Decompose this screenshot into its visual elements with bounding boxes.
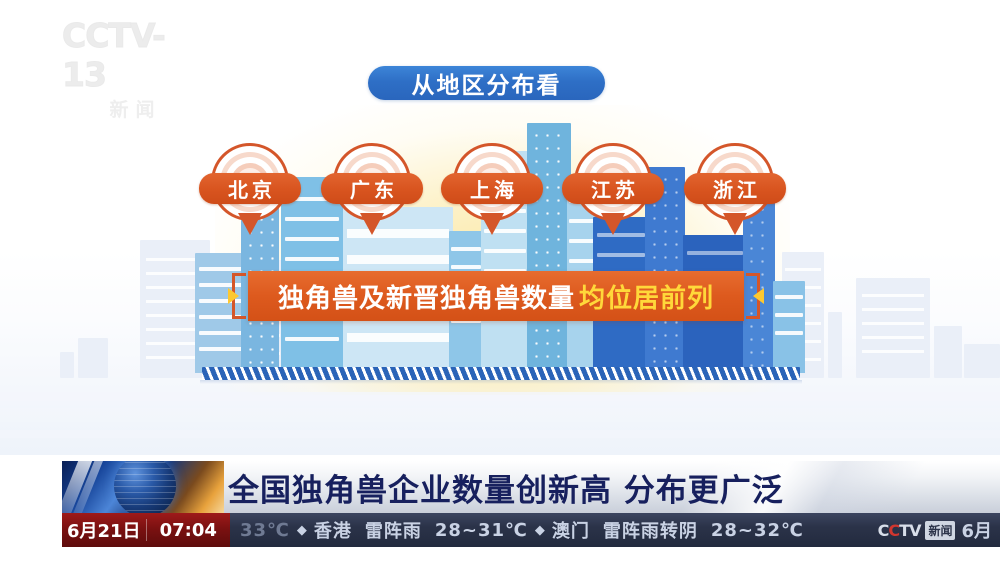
pin-label-text: 浙江 xyxy=(709,174,761,203)
pin-tip-icon xyxy=(723,213,747,235)
pin-label-text: 北京 xyxy=(224,174,276,203)
statement-highlight-text: 均位居前列 xyxy=(579,278,714,315)
weather-city: 香港 xyxy=(314,517,352,543)
ticker-time: 07:04 xyxy=(147,520,231,541)
headline-text: 全国独角兽企业数量创新高 分布更广泛 xyxy=(228,465,784,510)
pin-label: 广东 xyxy=(321,173,423,204)
weather-condition: 雷阵雨 xyxy=(365,517,422,543)
pin-label: 北京 xyxy=(199,173,301,204)
broadcast-screen: 从地区分布看 北京 广东 上海 xyxy=(0,0,1000,563)
arrow-right-icon xyxy=(753,288,764,304)
lower-third-bottom-fill xyxy=(0,547,1000,563)
pin-label-text: 广东 xyxy=(346,174,398,203)
channel-watermark: CCTV-13 新闻 xyxy=(62,38,202,100)
pin-label: 上海 xyxy=(441,173,543,204)
weather-bullet-icon: ◆ xyxy=(297,522,307,538)
location-pin-jiangsu[interactable]: 江苏 xyxy=(563,143,663,251)
pin-tip-icon xyxy=(601,213,625,235)
pin-label: 江苏 xyxy=(562,173,664,204)
ticker-news-badge: 新闻 xyxy=(925,521,955,540)
globe-logo-icon xyxy=(62,461,224,513)
location-pin-shanghai[interactable]: 上海 xyxy=(442,143,542,251)
ticker-datetime: 6月21日 07:04 xyxy=(62,513,230,547)
pin-label: 浙江 xyxy=(684,173,786,204)
statement-banner: 独角兽及新晋独角兽数量 均位居前列 xyxy=(248,271,744,321)
ticker-bar: 6月21日 07:04 33℃ ◆ 香港 雷阵雨 28~31℃ ◆ 澳门 雷阵雨… xyxy=(62,513,1000,547)
weather-range: 28~32℃ xyxy=(711,520,804,541)
infographic-background: 从地区分布看 北京 广东 上海 xyxy=(0,0,1000,455)
weather-city: 澳门 xyxy=(552,517,590,543)
pin-tip-icon xyxy=(238,213,262,235)
pin-label-text: 上海 xyxy=(466,174,518,203)
watermark-news-text: 新闻 xyxy=(102,95,161,122)
headline-container: 全国独角兽企业数量创新高 分布更广泛 xyxy=(228,461,784,513)
arrow-left-icon xyxy=(228,288,239,304)
weather-condition: 雷阵雨转阴 xyxy=(603,517,698,543)
location-pin-beijing[interactable]: 北京 xyxy=(200,143,300,251)
statement-banner-wrap: 独角兽及新晋独角兽数量 均位居前列 xyxy=(228,271,764,321)
pin-tip-icon xyxy=(480,213,504,235)
lower-third: 全国独角兽企业数量创新高 分布更广泛 6月21日 07:04 33℃ ◆ 香港 … xyxy=(0,455,1000,563)
statement-primary-text: 独角兽及新晋独角兽数量 xyxy=(278,278,575,315)
ticker-channel-logo: CCTV 新闻 xyxy=(878,521,962,540)
weather-range: 28~31℃ xyxy=(435,520,528,541)
ticker-tail-text: 6月 xyxy=(961,517,1000,543)
weather-bullet-icon: ◆ xyxy=(535,522,545,538)
pin-tip-icon xyxy=(360,213,384,235)
weather-lead-temp: 33℃ xyxy=(240,520,290,541)
pin-label-text: 江苏 xyxy=(587,174,639,203)
ticker-cctv-text: CCTV xyxy=(878,521,921,540)
ticker-date: 6月21日 xyxy=(62,517,146,543)
watermark-cctv-text: CCTV-13 xyxy=(62,16,202,94)
ticker-weather: 33℃ ◆ 香港 雷阵雨 28~31℃ ◆ 澳门 雷阵雨转阴 28~32℃ xyxy=(230,513,878,547)
location-pin-guangdong[interactable]: 广东 xyxy=(322,143,422,251)
location-pin-zhejiang[interactable]: 浙江 xyxy=(685,143,785,251)
